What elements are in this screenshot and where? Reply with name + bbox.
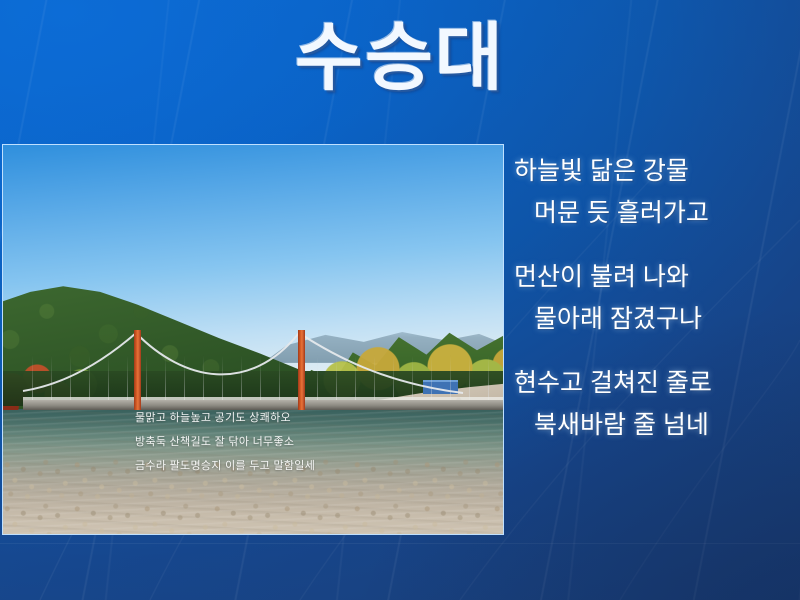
photo-caption: 물맑고 하늘높고 공기도 상쾌하오 방축둑 산책길도 잘 닦아 너무좋소 금수라… [135,406,475,478]
poem-line-1-2: 머문 듯 흘러가고 [506,192,800,234]
poem-stanza-3: 현수고 걸쳐진 줄로 북새바람 줄 넘네 [506,362,800,446]
poem-line-3-1: 현수고 걸쳐진 줄로 [506,362,800,404]
photo-bridge-hangers [23,355,503,402]
poem-line-2-2: 물아래 잠겼구나 [506,298,800,340]
poem-line-2-1: 먼산이 불려 나와 [506,256,800,298]
slide-title: 수승대 [0,18,800,98]
poem-stanza-1: 하늘빛 닮은 강물 머문 듯 흘러가고 [506,150,800,234]
caption-line-1: 물맑고 하늘높고 공기도 상쾌하오 [135,406,475,430]
poem-stanza-2: 먼산이 불려 나와 물아래 잠겼구나 [506,256,800,340]
caption-line-3: 금수라 팔도명승지 이를 두고 말함일세 [135,454,475,478]
presentation-slide: 수승대 물맑고 하늘높고 공기도 상쾌하오 방축둑 산책길도 [0,0,800,600]
caption-line-2: 방축둑 산책길도 잘 닦아 너무좋소 [135,430,475,454]
poem-line-1-1: 하늘빛 닮은 강물 [506,150,800,192]
poem-text-block: 하늘빛 닮은 강물 머문 듯 흘러가고 먼산이 불려 나와 물아래 잠겼구나 현… [506,150,800,468]
poem-line-3-2: 북새바람 줄 넘네 [506,404,800,446]
